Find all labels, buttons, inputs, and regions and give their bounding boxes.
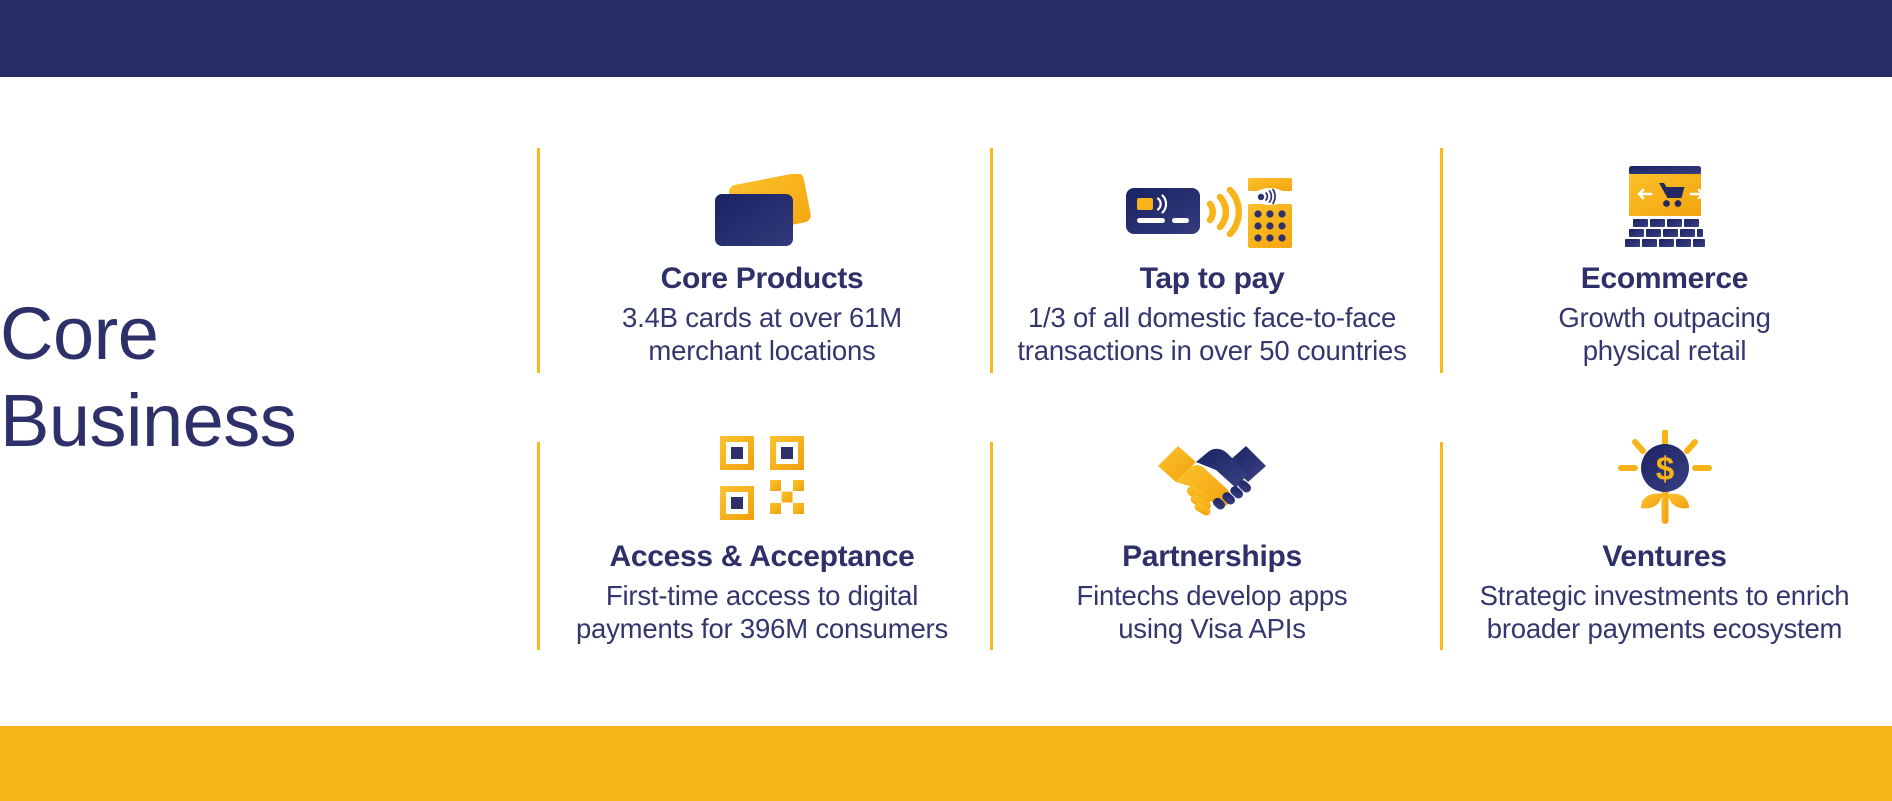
card-body-line-2: broader payments ecosystem [1480,612,1850,645]
handshake-icon [1156,426,1268,530]
credit-cards-icon [703,154,821,250]
card-heading: Partnerships [1122,540,1302,574]
card-ecommerce: Ecommerce Growth outpacing physical reta… [1437,148,1892,398]
money-flower-growth-icon: $ [1613,426,1717,530]
card-tap-to-pay: Tap to pay 1/3 of all domestic face-to-f… [987,148,1437,398]
svg-text:$: $ [1655,450,1673,487]
card-body-line-2: physical retail [1558,334,1770,367]
laptop-shopping-cart-icon [1611,154,1719,250]
card-heading: Core Products [661,262,864,296]
card-access-acceptance: Access & Acceptance First-time access to… [537,398,987,648]
top-navy-band [0,0,1892,77]
card-body: 1/3 of all domestic face-to-face transac… [1017,301,1406,367]
card-body-line-2: payments for 396M consumers [576,612,948,645]
page-title-line-1: Core [0,290,420,377]
core-business-grid: Core Products 3.4B cards at over 61M mer… [537,148,1892,648]
card-body-line-2: using Visa APIs [1077,612,1348,645]
page-title-line-2: Business [0,377,420,464]
card-body: Growth outpacing physical retail [1558,301,1770,367]
card-heading: Ecommerce [1581,262,1748,296]
card-body-line-2: transactions in over 50 countries [1017,334,1406,367]
card-core-products: Core Products 3.4B cards at over 61M mer… [537,148,987,398]
card-heading: Tap to pay [1140,262,1285,296]
card-body-line-1: Strategic investments to enrich [1480,579,1850,612]
card-body-line-1: 1/3 of all domestic face-to-face [1017,301,1406,334]
card-body-line-1: First-time access to digital [576,579,948,612]
card-body-line-1: 3.4B cards at over 61M [622,301,902,334]
card-body: Strategic investments to enrich broader … [1480,579,1850,645]
card-body-line-1: Fintechs develop apps [1077,579,1348,612]
bottom-yellow-band [0,726,1892,801]
card-heading: Ventures [1602,540,1726,574]
card-body-line-1: Growth outpacing [1558,301,1770,334]
page-title: Core Business [0,290,420,465]
card-ventures: $ Ventures Strategic investments to enri… [1437,398,1892,648]
card-body: 3.4B cards at over 61M merchant location… [622,301,902,367]
slide-core-business: Core Business [0,0,1892,801]
card-heading: Access & Acceptance [609,540,914,574]
qr-code-icon [720,426,804,530]
card-body-line-2: merchant locations [622,334,902,367]
contactless-tap-to-pay-icon [1124,154,1300,250]
card-body: Fintechs develop apps using Visa APIs [1077,579,1348,645]
card-body: First-time access to digital payments fo… [576,579,948,645]
card-partnerships: Partnerships Fintechs develop apps using… [987,398,1437,648]
